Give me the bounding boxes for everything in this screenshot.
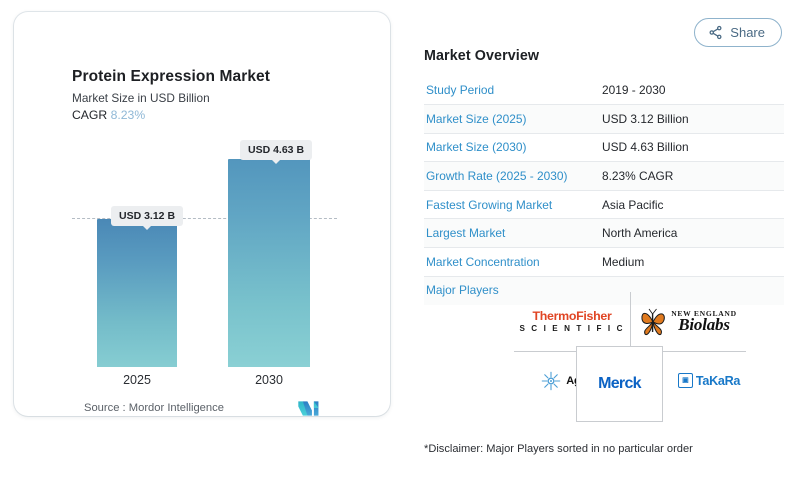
row-key: Market Size (2025)	[424, 105, 602, 134]
market-overview-table: Study Period 2019 - 2030 Market Size (20…	[424, 76, 784, 305]
logo-cell-merck: Merck	[576, 346, 663, 422]
row-value: 2019 - 2030	[602, 76, 784, 105]
market-overview-panel: Market Overview Study Period 2019 - 2030…	[424, 48, 784, 305]
row-value: USD 4.63 Billion	[602, 133, 784, 162]
bar-value-label-2030: USD 4.63 B	[240, 140, 312, 160]
row-key: Largest Market	[424, 219, 602, 248]
table-row: Market Size (2030) USD 4.63 Billion	[424, 133, 784, 162]
row-key: Market Size (2030)	[424, 133, 602, 162]
row-value: USD 3.12 Billion	[602, 105, 784, 134]
row-value: Asia Pacific	[602, 190, 784, 219]
agilent-starburst-icon	[541, 371, 561, 391]
row-key: Market Concentration	[424, 248, 602, 277]
x-axis-tick-2030: 2030	[228, 373, 310, 387]
row-key: Study Period	[424, 76, 602, 105]
share-icon	[708, 25, 723, 40]
takara-logo: ▣ TaKaRa	[678, 373, 740, 388]
table-row: Growth Rate (2025 - 2030) 8.23% CAGR	[424, 162, 784, 191]
table-row: Study Period 2019 - 2030	[424, 76, 784, 105]
row-key: Growth Rate (2025 - 2030)	[424, 162, 602, 191]
bar-value-label-2025: USD 3.12 B	[111, 206, 183, 226]
panel-title: Market Overview	[424, 48, 784, 64]
thermofisher-scientific-logo: ThermoFisher S C I E N T I F I C	[519, 310, 624, 333]
mordor-intelligence-logo	[297, 400, 323, 417]
neb-biolabs-text: Biolabs	[671, 316, 737, 333]
table-row: Market Size (2025) USD 3.12 Billion	[424, 105, 784, 134]
takara-mark-icon: ▣	[678, 373, 693, 388]
share-button-label: Share	[730, 25, 765, 40]
source-label: Source :	[84, 402, 126, 414]
table-row: Fastest Growing Market Asia Pacific	[424, 190, 784, 219]
row-key: Fastest Growing Market	[424, 190, 602, 219]
logo-cell-new-england-biolabs: NEW ENGLAND Biolabs	[630, 292, 746, 351]
butterfly-icon	[639, 306, 669, 338]
logo-cell-thermofisher: ThermoFisher S C I E N T I F I C	[514, 292, 630, 351]
disclaimer-text: *Disclaimer: Major Players sorted in no …	[424, 443, 693, 455]
thermofisher-tagline: S C I E N T I F I C	[519, 325, 624, 333]
new-england-biolabs-logo: NEW ENGLAND Biolabs	[671, 310, 737, 334]
table-row: Largest Market North America	[424, 219, 784, 248]
row-value: 8.23% CAGR	[602, 162, 784, 191]
bar-2030[interactable]	[228, 159, 310, 367]
bar-chart-plot: USD 3.12 B USD 4.63 B 2025 2030	[14, 12, 390, 416]
share-button[interactable]: Share	[694, 18, 782, 47]
chart-source: Source : Mordor Intelligence	[84, 402, 224, 414]
takara-wordmark: TaKaRa	[696, 374, 740, 388]
table-row: Market Concentration Medium	[424, 248, 784, 277]
bar-2025[interactable]	[97, 219, 177, 367]
row-value: Medium	[602, 248, 784, 277]
chart-card: Protein Expression Market Market Size in…	[14, 12, 390, 416]
x-axis-tick-2025: 2025	[97, 373, 177, 387]
row-value: North America	[602, 219, 784, 248]
screenshot-root: Protein Expression Market Market Size in…	[0, 0, 800, 482]
thermofisher-wordmark: ThermoFisher	[519, 310, 624, 322]
source-name: Mordor Intelligence	[129, 402, 224, 414]
merck-wordmark: Merck	[598, 375, 641, 393]
